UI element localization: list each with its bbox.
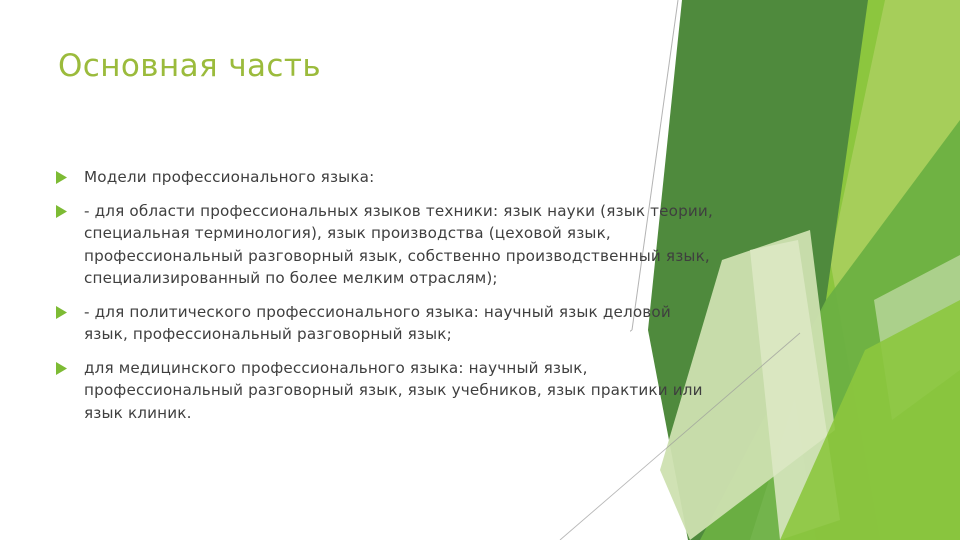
list-item-text: - для области профессиональных языков те… bbox=[84, 200, 716, 290]
decor-shape-light-green bbox=[830, 0, 960, 540]
triangle-right-bullet-icon bbox=[56, 357, 84, 375]
triangle-right-bullet-icon bbox=[56, 301, 84, 319]
triangle-right-bullet-icon bbox=[56, 200, 84, 218]
slide-canvas: Основная часть Модели профессионального … bbox=[0, 0, 960, 540]
triangle-right-bullet-icon bbox=[56, 166, 84, 184]
slide-title: Основная часть bbox=[58, 46, 698, 86]
decor-shape-bright-green-right bbox=[780, 0, 960, 540]
list-item: - для области профессиональных языков те… bbox=[56, 200, 716, 290]
list-item: - для политического профессионального яз… bbox=[56, 301, 716, 346]
list-item-text: Модели профессионального языка: bbox=[84, 166, 716, 189]
list-item-text: - для политического профессионального яз… bbox=[84, 301, 716, 346]
decor-shape-bright-green-bottom bbox=[780, 300, 960, 540]
decor-shape-very-pale-green bbox=[750, 240, 840, 540]
decor-shape-mid-green-lower bbox=[700, 120, 960, 540]
list-item-text: для медицинского профессионального языка… bbox=[84, 357, 716, 425]
decor-shape-pale-highlight-right bbox=[874, 255, 960, 420]
list-item: для медицинского профессионального языка… bbox=[56, 357, 716, 425]
bullet-list: Модели профессионального языка: - для об… bbox=[56, 166, 716, 424]
list-item: Модели профессионального языка: bbox=[56, 166, 716, 189]
